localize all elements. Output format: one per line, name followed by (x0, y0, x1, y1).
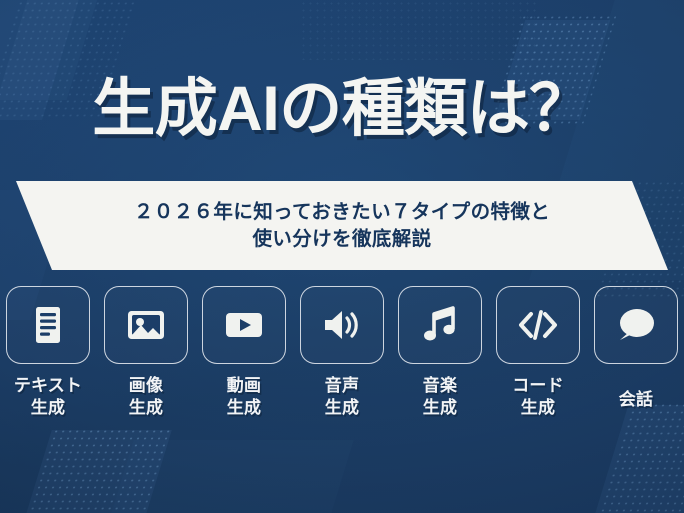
label-line-2: 生成 (129, 397, 163, 419)
thumbnail-canvas: 生成AIの種類は？ ２０２６年に知っておきたい７タイプの特徴と 使い分けを徹底解… (0, 0, 684, 513)
card-video[interactable] (202, 286, 286, 364)
label-line-2: 生成 (512, 397, 564, 419)
code-brackets-icon (515, 302, 561, 348)
category-item-text[interactable]: テキスト 生成 (4, 286, 92, 419)
card-label-code: コード 生成 (512, 375, 564, 419)
card-text[interactable] (6, 286, 90, 364)
label-line-2: 生成 (423, 397, 457, 419)
category-item-video[interactable]: 動画 生成 (200, 286, 288, 419)
card-chat[interactable] (594, 286, 678, 364)
category-item-chat[interactable]: 会話 (592, 286, 680, 419)
card-label-chat: 会話 (619, 389, 653, 411)
label-line-1: テキスト (14, 375, 82, 397)
card-label-text: テキスト 生成 (14, 375, 82, 419)
label-line-2: 生成 (14, 397, 82, 419)
category-item-code[interactable]: コード 生成 (494, 286, 582, 419)
label-line-1: 画像 (129, 375, 163, 397)
card-label-video: 動画 生成 (227, 375, 261, 419)
banner-text-block: ２０２６年に知っておきたい７タイプの特徴と 使い分けを徹底解説 (0, 181, 684, 270)
card-code[interactable] (496, 286, 580, 364)
banner-line-2: 使い分けを徹底解説 (252, 227, 431, 251)
card-image[interactable] (104, 286, 188, 364)
label-line-1: 会話 (619, 389, 653, 411)
category-item-music[interactable]: 音楽 生成 (396, 286, 484, 419)
page-title: 生成AIの種類は？ (92, 78, 592, 141)
video-play-icon (221, 302, 267, 348)
category-item-image[interactable]: 画像 生成 (102, 286, 190, 419)
document-icon (25, 302, 71, 348)
label-line-2: 生成 (325, 397, 359, 419)
label-line-1: 音楽 (423, 375, 457, 397)
category-item-voice[interactable]: 音声 生成 (298, 286, 386, 419)
card-label-image: 画像 生成 (129, 375, 163, 419)
card-music[interactable] (398, 286, 482, 364)
title-area: 生成AIの種類は？ (0, 78, 684, 141)
card-label-voice: 音声 生成 (325, 375, 359, 419)
subtitle-banner: ２０２６年に知っておきたい７タイプの特徴と 使い分けを徹底解説 (0, 181, 684, 270)
image-icon (123, 302, 169, 348)
speaker-icon (319, 302, 365, 348)
label-line-1: 音声 (325, 375, 359, 397)
music-note-icon (417, 302, 463, 348)
banner-line-1: ２０２６年に知っておきたい７タイプの特徴と (134, 200, 550, 224)
card-voice[interactable] (300, 286, 384, 364)
label-line-1: コード (512, 375, 564, 397)
chat-bubble-icon (613, 302, 659, 348)
card-label-music: 音楽 生成 (423, 375, 457, 419)
label-line-1: 動画 (227, 375, 261, 397)
category-card-row: テキスト 生成 画像 生成 (0, 286, 684, 419)
label-line-2: 生成 (227, 397, 261, 419)
